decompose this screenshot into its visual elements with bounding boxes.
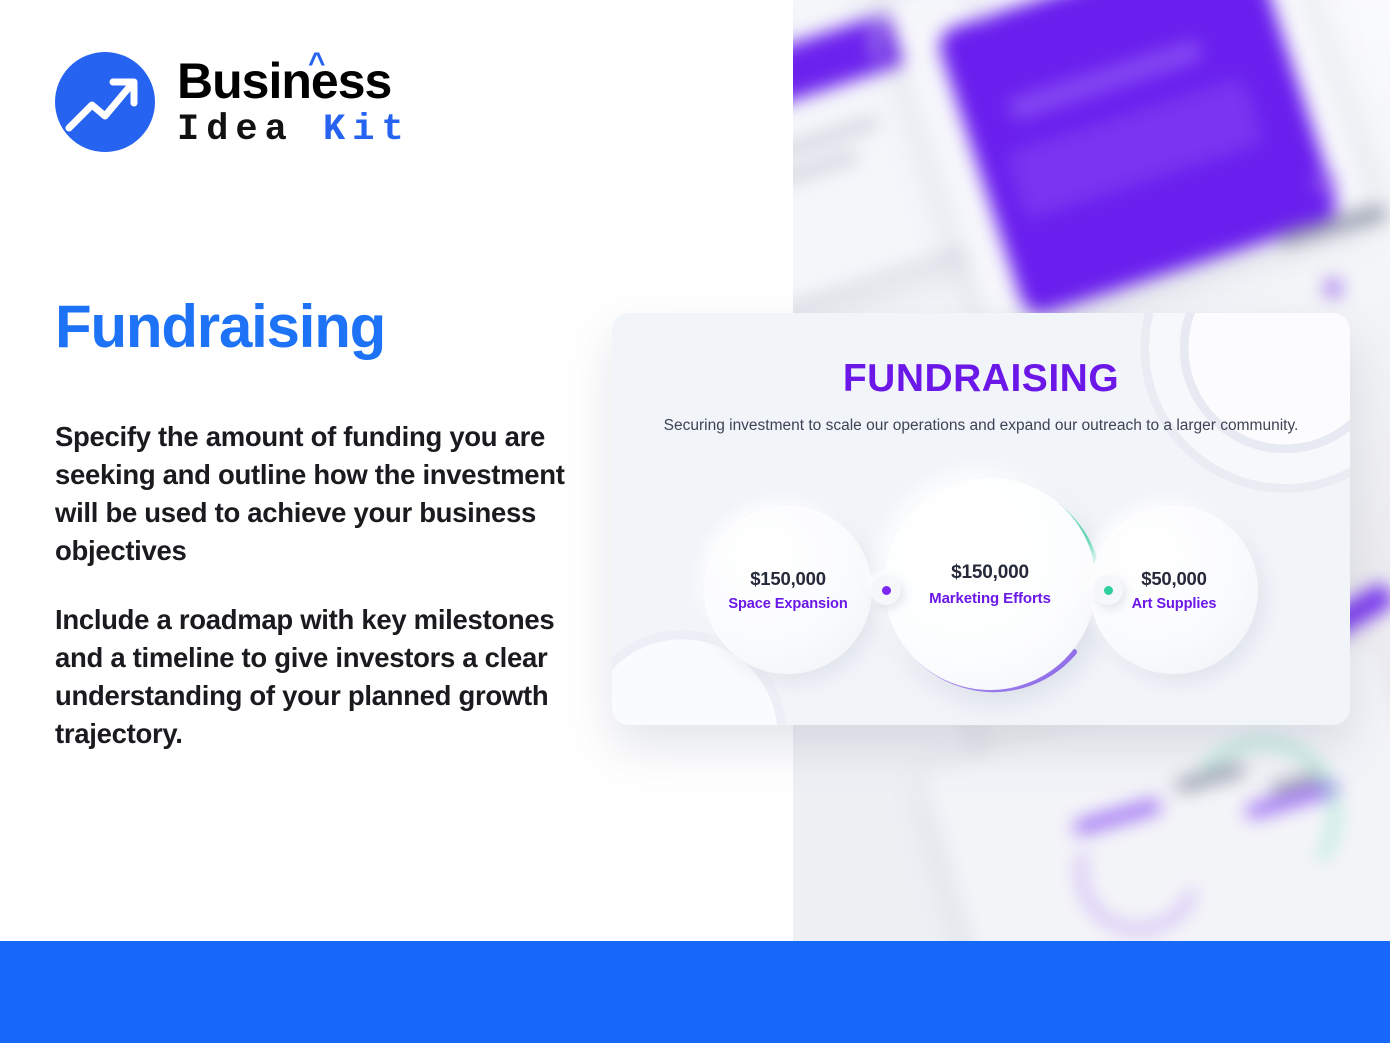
brand-name-idea: Idea [177,109,294,151]
card-subtitle: Securing investment to scale our operati… [612,415,1350,436]
body-copy: Specify the amount of funding you are se… [55,418,567,753]
decorative-rings-top-right [1130,313,1350,503]
paragraph-1: Specify the amount of funding you are se… [55,418,567,570]
footer-bar [0,941,1390,1043]
funding-item-marketing-efforts[interactable]: $150,000 Marketing Efforts [884,478,1096,690]
funding-label: Marketing Efforts [929,590,1051,607]
card-title: FUNDRAISING [612,357,1350,401]
connector-node-left [871,575,901,605]
brand-name-top-text: Business [177,53,391,109]
brand-logo: Business ^ Idea Kit [55,52,411,152]
funding-label: Space Expansion [728,596,847,612]
fundraising-preview-card[interactable]: FUNDRAISING Securing investment to scale… [612,313,1350,725]
funding-item-space-expansion[interactable]: $150,000 Space Expansion [704,506,872,674]
funding-amount: $50,000 [1141,568,1206,590]
brand-wordmark: Business ^ Idea Kit [177,56,411,149]
funding-amount: $150,000 [951,562,1029,584]
brand-name-kit: Kit [323,109,411,151]
slide-page: Business ^ Idea Kit Fundraising Specify … [0,0,1390,1043]
page-title: Fundraising [55,297,385,357]
funding-amount: $150,000 [750,568,826,590]
paragraph-2: Include a roadmap with key milestones an… [55,601,567,753]
funding-breakdown-diagram: $150,000 Space Expansion $150,000 Market… [612,493,1350,723]
connector-node-right [1093,575,1123,605]
brand-name-top: Business ^ [177,56,411,106]
funding-label: Art Supplies [1132,596,1217,612]
growth-arrow-icon [55,52,155,152]
chevron-accent-icon: ^ [308,49,325,79]
brand-name-bottom: Idea Kit [177,112,411,149]
